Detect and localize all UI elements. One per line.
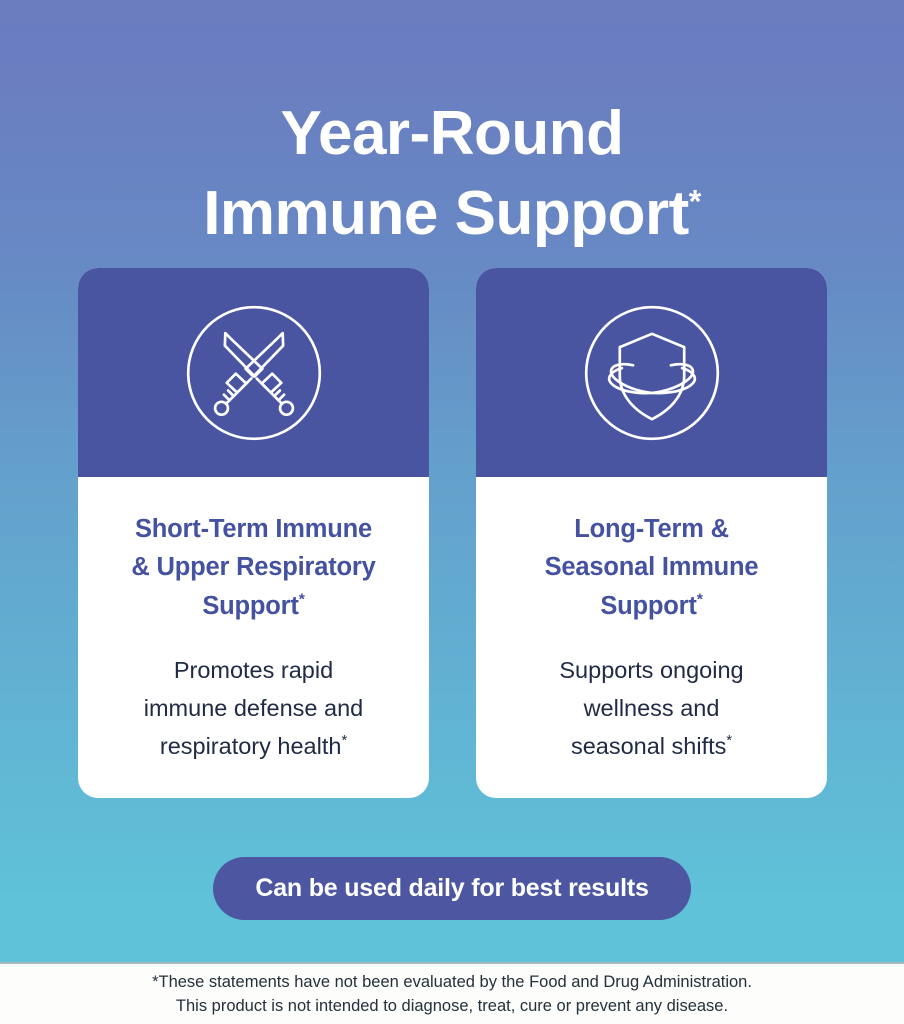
infographic-page: Year-Round Immune Support* [0, 0, 904, 1024]
page-title: Year-Round Immune Support* [0, 94, 904, 255]
card-description-footnote-marker: * [341, 734, 347, 750]
shield-orbit-icon [582, 303, 722, 443]
card-description-text: Promotes rapid immune defense and respir… [144, 657, 363, 760]
card-description-footnote-marker: * [726, 734, 732, 750]
page-title-text: Year-Round Immune Support [203, 99, 689, 249]
usage-callout-button[interactable]: Can be used daily for best results [213, 857, 690, 920]
benefit-card-list: Short-Term Immune & Upper Respiratory Su… [78, 268, 827, 798]
card-description-text: Supports ongoing wellness and seasonal s… [559, 657, 743, 760]
card-title: Short-Term Immune & Upper Respiratory Su… [104, 510, 403, 625]
disclaimer-footer: *These statements have not been evaluate… [0, 962, 904, 1024]
disclaimer-line-2: This product is not intended to diagnose… [176, 994, 728, 1018]
card-title-footnote-marker: * [299, 591, 305, 608]
benefit-card-short-term: Short-Term Immune & Upper Respiratory Su… [78, 268, 429, 798]
card-title-footnote-marker: * [697, 591, 703, 608]
card-description: Promotes rapid immune defense and respir… [104, 651, 403, 766]
card-icon-header [78, 268, 429, 477]
crossed-swords-icon [184, 303, 324, 443]
usage-callout-wrapper: Can be used daily for best results [0, 857, 904, 920]
card-icon-header [476, 268, 827, 477]
card-body: Short-Term Immune & Upper Respiratory Su… [78, 477, 429, 798]
card-title-text: Long-Term & Seasonal Immune Support [545, 515, 759, 620]
card-description: Supports ongoing wellness and seasonal s… [502, 651, 801, 766]
card-title-text: Short-Term Immune & Upper Respiratory Su… [131, 515, 375, 620]
benefit-card-long-term: Long-Term & Seasonal Immune Support* Sup… [476, 268, 827, 798]
card-body: Long-Term & Seasonal Immune Support* Sup… [476, 477, 827, 798]
card-title: Long-Term & Seasonal Immune Support* [502, 510, 801, 625]
page-title-footnote-marker: * [689, 183, 701, 219]
disclaimer-line-1: *These statements have not been evaluate… [152, 970, 752, 994]
